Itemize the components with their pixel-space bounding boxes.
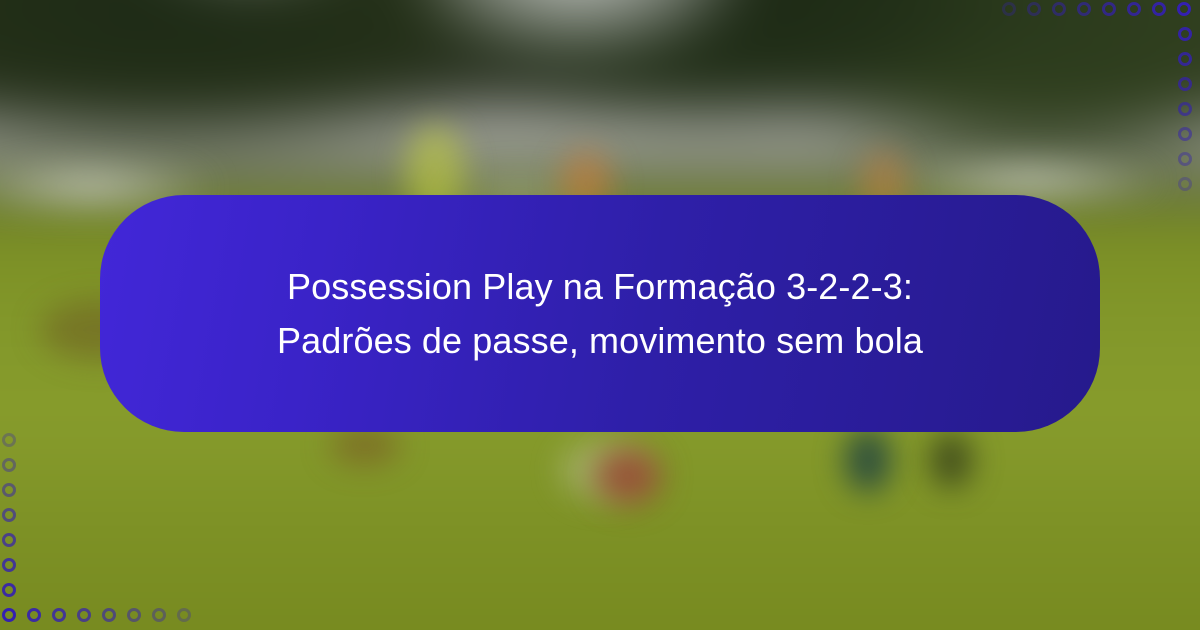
decorative-dot xyxy=(2,508,16,522)
decorative-dot xyxy=(1178,27,1192,41)
decorative-dot xyxy=(1027,2,1041,16)
decorative-dot xyxy=(127,608,141,622)
share-card-canvas: Possession Play na Formação 3-2-2-3: Pad… xyxy=(0,0,1200,630)
decorative-dot xyxy=(1178,127,1192,141)
page-title: Possession Play na Formação 3-2-2-3: Pad… xyxy=(229,260,971,368)
decorative-dot xyxy=(2,583,16,597)
decorative-dot xyxy=(2,608,16,622)
decorative-dot xyxy=(1178,102,1192,116)
decorative-dot xyxy=(2,533,16,547)
decorative-dot xyxy=(77,608,91,622)
decorative-dot xyxy=(1152,2,1166,16)
background-player-shape xyxy=(845,428,891,492)
decorative-dot xyxy=(1178,77,1192,91)
decorative-dot xyxy=(27,608,41,622)
decorative-dot xyxy=(1002,2,1016,16)
decorative-dot xyxy=(1127,2,1141,16)
decorative-dot xyxy=(1178,52,1192,66)
background-ball-shape xyxy=(595,448,661,504)
decorative-dot xyxy=(1052,2,1066,16)
decorative-dot xyxy=(1178,152,1192,166)
decorative-dot xyxy=(2,433,16,447)
decorative-dot xyxy=(177,608,191,622)
decorative-dot xyxy=(2,483,16,497)
decorative-dot xyxy=(1178,177,1192,191)
decorative-dot xyxy=(1102,2,1116,16)
decorative-dot xyxy=(1077,2,1091,16)
decorative-dot xyxy=(102,608,116,622)
decorative-dot xyxy=(2,458,16,472)
background-player-shape xyxy=(930,432,972,488)
decorative-dot xyxy=(1177,2,1191,16)
decorative-dot xyxy=(52,608,66,622)
title-card: Possession Play na Formação 3-2-2-3: Pad… xyxy=(100,195,1100,432)
decorative-dot xyxy=(152,608,166,622)
decorative-dot xyxy=(2,558,16,572)
